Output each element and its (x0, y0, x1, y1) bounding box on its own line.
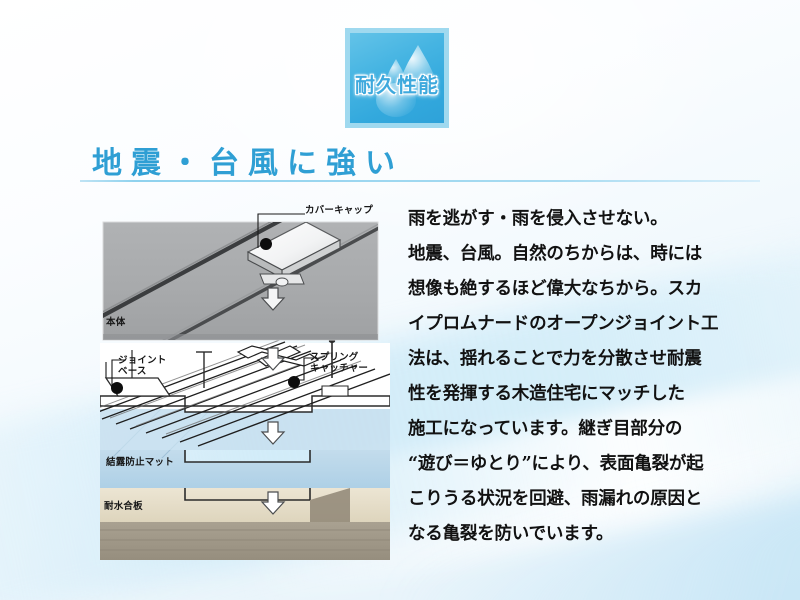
page-root: 耐久性能 地震・台風に強い (0, 0, 800, 600)
body-copy-line: 雨を逃がす・雨を侵入させない。 (408, 202, 788, 237)
body-copy-block: 雨を逃がす・雨を侵入させない。 地震、台風。自然のちからは、時には 想像も絶する… (408, 202, 788, 552)
page-title: 地震・台風に強い (92, 138, 404, 182)
construction-cross-section-diagram: カバーキャップ 本体 ジョイント ベース スプリング キャッチャー 結露防止マッ… (100, 200, 390, 560)
badge-inner-panel: 耐久性能 (350, 33, 444, 123)
title-underline-rule (80, 180, 760, 182)
diagram-label-body: 本体 (106, 318, 125, 329)
body-copy-line: なる亀裂を防いでいます。 (408, 517, 788, 552)
body-copy-line: 法は、揺れることで力を分散させ耐震 (408, 342, 788, 377)
joint-base-line-1: ジョイント (118, 355, 167, 366)
diagram-label-joint-base: ジョイント ベース (118, 355, 167, 378)
durability-badge: 耐久性能 (345, 28, 449, 128)
diagram-label-spring-catcher: スプリング キャッチャー (310, 352, 368, 375)
diagram-label-cover-cap: カバーキャップ (305, 206, 373, 217)
diagram-illustration (100, 200, 390, 560)
body-copy-line: 性を発揮する木造住宅にマッチした (408, 377, 788, 412)
badge-label: 耐久性能 (350, 69, 444, 98)
spring-catcher-line-2: キャッチャー (310, 363, 368, 374)
joint-base-line-2: ベース (118, 366, 167, 377)
spring-catcher-line-1: スプリング (310, 352, 368, 363)
body-copy-line: こりうる状況を回避、雨漏れの原因と (408, 482, 788, 517)
diagram-label-condensation-mat: 結露防止マット (106, 458, 174, 469)
body-copy-line: 施工になっています。継ぎ目部分の (408, 412, 788, 447)
body-copy-line: 地震、台風。自然のちからは、時には (408, 237, 788, 272)
body-copy-line: イプロムナードのオープンジョイント工 (408, 307, 788, 342)
diagram-label-waterproof-plywood: 耐水合板 (104, 502, 143, 513)
body-copy-line: “遊び＝ゆとり”により、表面亀裂が起 (408, 447, 788, 482)
body-copy-line: 想像も絶するほど偉大なちから。スカ (408, 272, 788, 307)
